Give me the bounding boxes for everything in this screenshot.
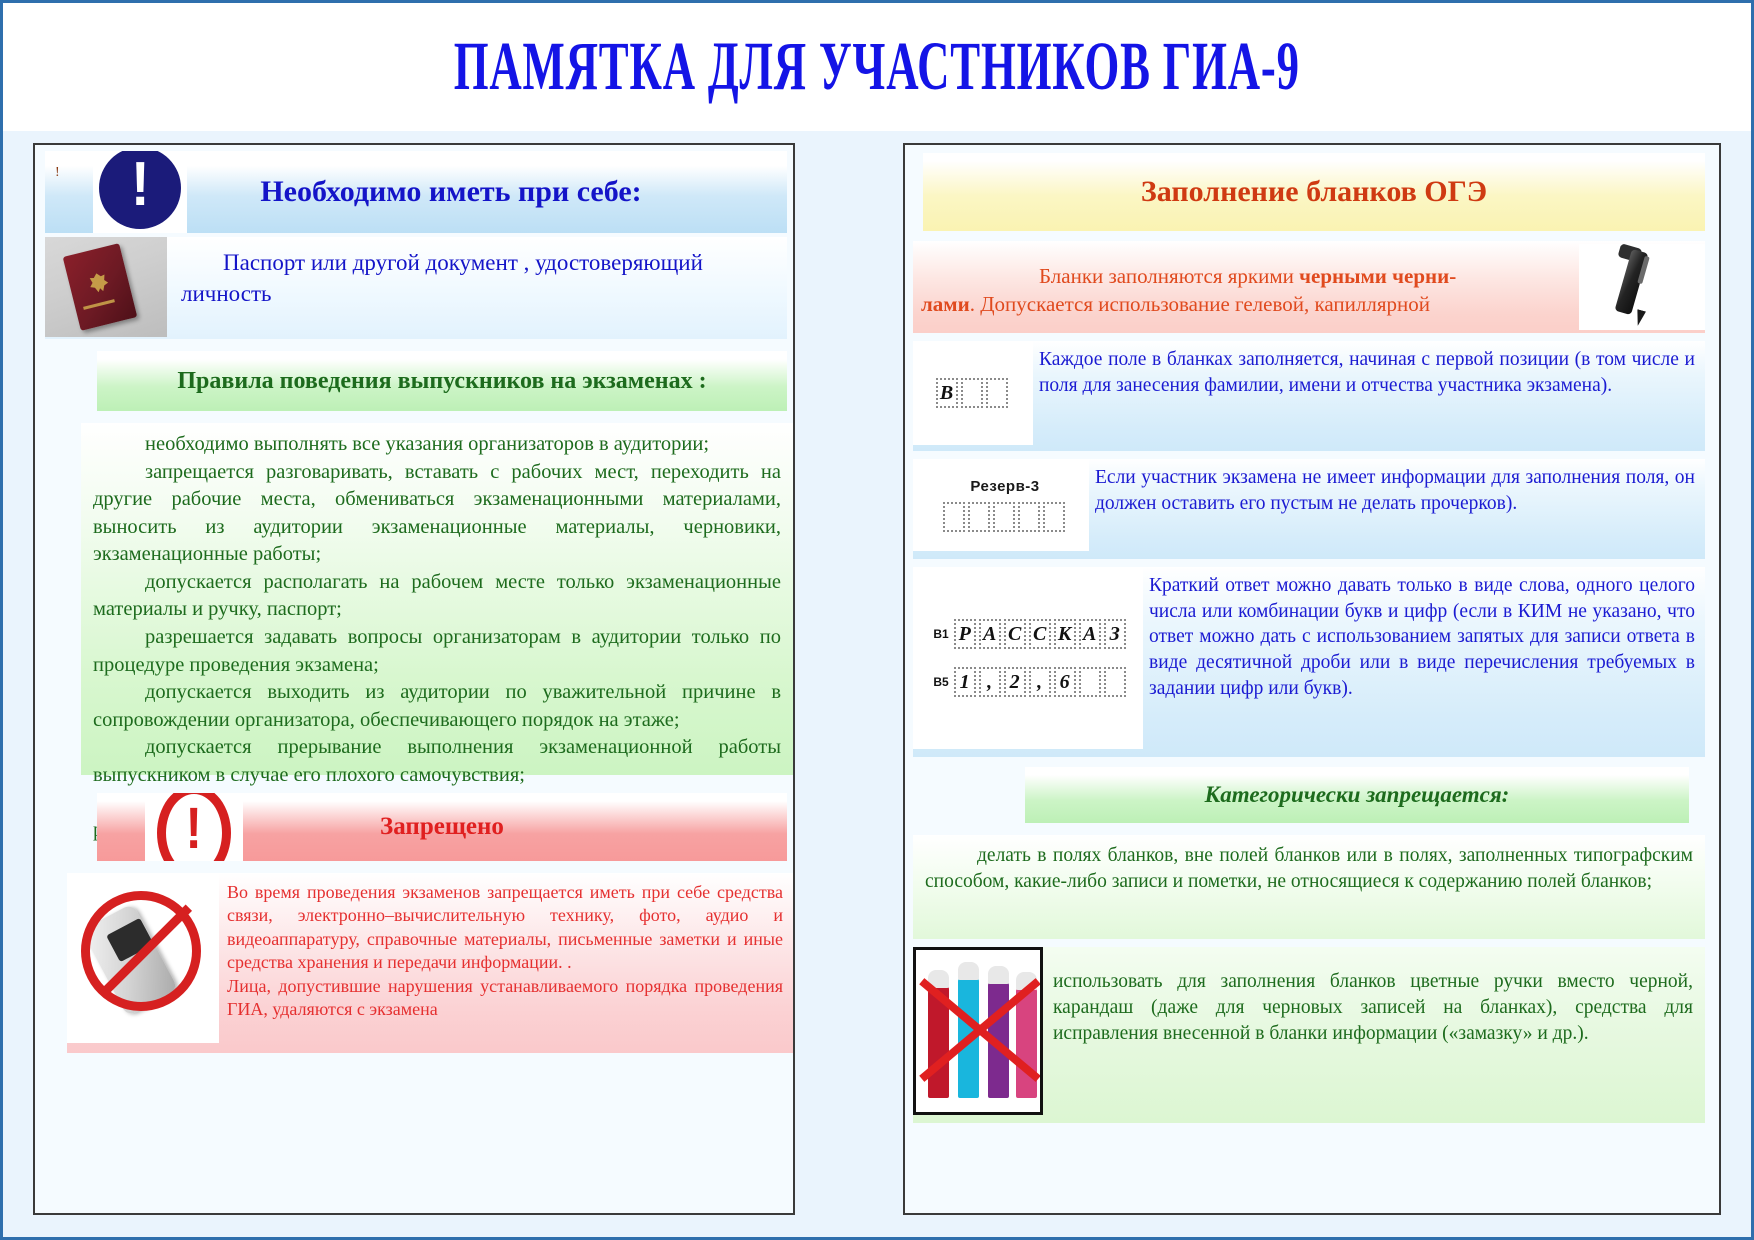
sample-cell — [1104, 667, 1126, 697]
passport-line-1: Паспорт или другой документ , удостоверя… — [181, 247, 775, 278]
rule-item: допускается прерывание выполнения экзаме… — [93, 734, 781, 789]
passport-row: Паспорт или другой документ , удостоверя… — [45, 237, 787, 339]
pen-pink-shape — [1016, 988, 1037, 1098]
rules-header-title: Правила поведения выпускников на экзамен… — [97, 368, 787, 395]
rule-row-paragraph: Краткий ответ можно давать только в виде… — [1149, 573, 1695, 702]
passport-line-2: личность — [181, 278, 775, 309]
right-header-title: Заполнение бланков ОГЭ — [923, 175, 1705, 209]
rule-item: допускается выходить из аудитории по ува… — [93, 679, 781, 734]
strict-body: делать в полях бланков, вне полей бланко… — [913, 835, 1705, 939]
strict-paragraph: делать в полях бланков, вне полей бланко… — [925, 843, 1693, 895]
sample-cell: , — [979, 667, 1001, 697]
sample-cell: К — [1054, 619, 1076, 649]
sample-cells: 1 , 2 , 6 — [954, 667, 1129, 697]
sample-cell: А — [979, 619, 1001, 649]
page-title: ПАМЯТКА ДЛЯ УЧАСТНИКОВ ГИА-9 — [454, 28, 1300, 106]
ink-bold-2: лами — [921, 292, 970, 316]
sample-cells: Р А С С К А З — [954, 619, 1129, 649]
black-pen-photo — [1579, 244, 1705, 330]
no-mobile-phone-photo — [67, 873, 219, 1043]
forbidden-body: Во время проведения экзаменов запрещаетс… — [67, 873, 793, 1053]
sample-code-b1: В1 — [933, 627, 948, 641]
ink-part-2: . Допускается использование гелевой, кап… — [970, 292, 1430, 316]
exclamation-glyph: ! — [131, 154, 150, 216]
rules-header-band: Правила поведения выпускников на экзамен… — [97, 351, 787, 411]
poster-root: ПАМЯТКА ДЛЯ УЧАСТНИКОВ ГИА-9 ! ! Необход… — [0, 0, 1754, 1240]
blue-disc: ! — [99, 151, 181, 229]
sample-cell — [986, 378, 1008, 408]
forbidden-text: Во время проведения экзаменов запрещаетс… — [219, 873, 793, 1053]
reserv-label: Резерв-3 — [970, 478, 1039, 495]
sample-cell: 2 — [1004, 667, 1026, 697]
left-column: ! ! Необходимо иметь при себе: Паспорт и… — [33, 143, 795, 1215]
pens-text: использовать для заполнения бланков цвет… — [1043, 947, 1705, 1047]
left-header-band: ! ! Необходимо иметь при себе: — [45, 151, 787, 233]
blank-field-reserv-sample: Резерв-3 — [913, 459, 1089, 551]
rule-row-text: Краткий ответ можно давать только в виде… — [1143, 567, 1705, 706]
sample-cell: В — [936, 378, 958, 408]
sample-cells — [943, 502, 1068, 532]
right-header-band: Заполнение бланков ОГЭ — [923, 153, 1705, 231]
pen-tip-shape — [1633, 309, 1646, 327]
sample-cell — [968, 502, 990, 532]
sample-cell: 6 — [1054, 667, 1076, 697]
answer-sample-word-row: В1 Р А С С К А З — [933, 619, 1128, 649]
rule-row-text: Если участник экзамена не имеет информац… — [1089, 459, 1705, 520]
ink-bold-1: черными черни- — [1299, 264, 1456, 288]
sample-cell — [1043, 502, 1065, 532]
sample-cell — [943, 502, 965, 532]
rule-row-empty-field: Резерв-3 Если участник экзамена не имеет… — [913, 459, 1705, 559]
blue-exclamation-circle-icon: ! — [93, 151, 187, 233]
pens-row: использовать для заполнения бланков цвет… — [913, 947, 1705, 1123]
red-exclamation-circle-icon: ! — [145, 793, 243, 861]
sample-code-b5: В5 — [933, 675, 948, 689]
ink-part-1: Бланки заполняются яркими — [921, 264, 1299, 288]
exclamation-glyph: ! — [186, 800, 202, 858]
sample-cell: А — [1079, 619, 1101, 649]
sample-cell: С — [1004, 619, 1026, 649]
sample-cell: Р — [954, 619, 976, 649]
title-bar: ПАМЯТКА ДЛЯ УЧАСТНИКОВ ГИА-9 — [3, 3, 1751, 131]
forbidden-paragraph: Лица, допустившие нарушения устанавливае… — [227, 975, 783, 1022]
sample-cell: 1 — [954, 667, 976, 697]
ink-row: Бланки заполняются яркими черными черни-… — [913, 241, 1705, 333]
pens-paragraph: использовать для заполнения бланков цвет… — [1053, 969, 1693, 1047]
rule-row-first-position: В Каждое поле в бланках заполняется, нач… — [913, 341, 1705, 451]
rule-item: разрешается задавать вопросы организатор… — [93, 624, 781, 679]
rules-body: необходимо выполнять все указания органи… — [81, 423, 793, 775]
sample-cell: С — [1029, 619, 1051, 649]
sample-cell: , — [1029, 667, 1051, 697]
red-ring: ! — [157, 793, 231, 861]
rule-row-paragraph: Если участник экзамена не имеет информац… — [1095, 465, 1695, 516]
rule-item: запрещается разговаривать, вставать с ра… — [93, 459, 781, 569]
rule-row-text: Каждое поле в бланках заполняется, начин… — [1033, 341, 1705, 402]
blank-field-letter-sample: В — [913, 341, 1033, 445]
ink-text: Бланки заполняются яркими черными черни-… — [913, 256, 1579, 318]
sample-cell — [993, 502, 1015, 532]
rule-row-paragraph: Каждое поле в бланках заполняется, начин… — [1039, 347, 1695, 398]
blank-field-answer-sample: В1 Р А С С К А З В5 1 , — [913, 567, 1143, 749]
sample-cell — [1079, 667, 1101, 697]
sample-cell — [961, 378, 983, 408]
passport-photo — [45, 237, 167, 337]
forbidden-header-band: ! Запрещено — [97, 793, 787, 861]
forbidden-paragraph: Во время проведения экзаменов запрещаетс… — [227, 881, 783, 975]
rule-item: необходимо выполнять все указания органи… — [93, 431, 781, 459]
rule-item: допускается располагать на рабочем месте… — [93, 569, 781, 624]
answer-sample-digit-row: В5 1 , 2 , 6 — [933, 667, 1128, 697]
strict-header-title: Категорически запрещается: — [1025, 782, 1689, 808]
right-column: Заполнение бланков ОГЭ Бланки заполняютс… — [903, 143, 1721, 1215]
passport-text: Паспорт или другой документ , удостоверя… — [167, 237, 787, 309]
strict-header-band: Категорически запрещается: — [1025, 767, 1689, 823]
sample-cell — [1018, 502, 1040, 532]
no-colored-pens-photo — [913, 947, 1043, 1115]
sample-cells: В — [936, 378, 1011, 408]
sample-cell: З — [1104, 619, 1126, 649]
corner-mark: ! — [55, 165, 60, 181]
rule-row-short-answer: В1 Р А С С К А З В5 1 , — [913, 567, 1705, 757]
